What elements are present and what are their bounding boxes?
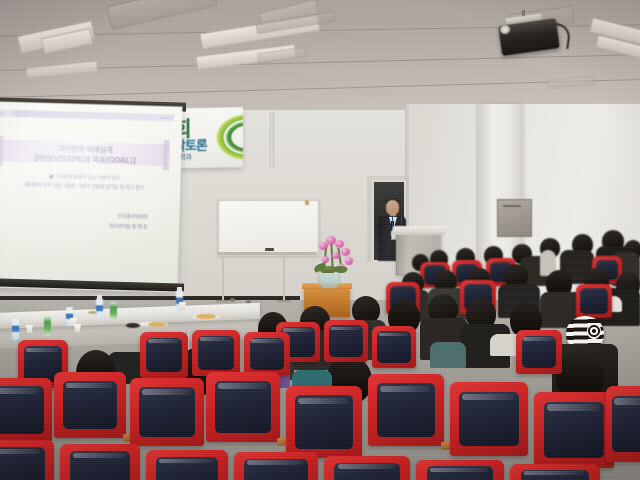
auditorium-seat[interactable] bbox=[450, 382, 528, 456]
auditorium-seat[interactable] bbox=[234, 452, 318, 480]
beverage-bottle bbox=[110, 302, 117, 320]
beanie-swirl-pattern bbox=[587, 323, 601, 339]
snack-food bbox=[148, 322, 166, 327]
whiteboard-clip bbox=[305, 200, 309, 205]
auditorium-seat[interactable] bbox=[140, 332, 188, 378]
auditorium-seat[interactable] bbox=[130, 378, 204, 446]
bottle-cap bbox=[97, 295, 102, 299]
floor-object bbox=[230, 298, 235, 302]
beverage-bottle bbox=[44, 316, 51, 336]
podium-desktop bbox=[391, 226, 448, 235]
banner-hanging-rod bbox=[270, 112, 274, 168]
bottle-cap bbox=[13, 315, 18, 319]
auditorium-seat[interactable] bbox=[0, 378, 52, 442]
auditorium-seat[interactable] bbox=[606, 386, 640, 462]
bottle-cap bbox=[177, 287, 182, 291]
auditorium-seat[interactable] bbox=[324, 456, 410, 480]
orchid-bloom bbox=[332, 252, 340, 259]
auditorium-seat[interactable] bbox=[576, 284, 612, 318]
auditorium-seat[interactable] bbox=[286, 386, 362, 458]
wall-control-panel[interactable] bbox=[497, 199, 532, 237]
audience-colored-coat bbox=[430, 342, 466, 368]
auditorium-seat[interactable] bbox=[206, 372, 280, 442]
snack-food bbox=[88, 311, 97, 314]
auditorium-seat[interactable] bbox=[534, 392, 614, 468]
projection-screen: ▪▪▪▪▪ 자신만의 미래설계 [비전(VISION)과 목표(GOAL)] ■… bbox=[0, 101, 183, 292]
lecture-hall-photo: 수회 기전탁토론 교 현장공학과 ▪▪▪▪▪ 자신만의 미래설계 [비전(VIS… bbox=[0, 0, 640, 480]
auditorium-seat[interactable] bbox=[516, 330, 562, 374]
water-bottle bbox=[96, 298, 103, 319]
auditorium-seat[interactable] bbox=[60, 444, 140, 480]
snack-food bbox=[126, 323, 140, 328]
auditorium-seat[interactable] bbox=[192, 330, 240, 376]
whiteboard-pen-tray bbox=[218, 252, 317, 255]
orchid-bloom bbox=[341, 248, 350, 256]
auditorium-seat[interactable] bbox=[54, 372, 126, 438]
auditorium-seat[interactable] bbox=[368, 374, 444, 446]
whiteboard-foot bbox=[216, 300, 229, 302]
auditorium-seat[interactable] bbox=[510, 464, 600, 480]
whiteboard-leg bbox=[283, 254, 285, 302]
auditorium-seat[interactable] bbox=[0, 440, 54, 480]
orchid-bloom bbox=[335, 240, 344, 248]
water-bottle bbox=[12, 318, 19, 340]
whiteboard-leg bbox=[222, 254, 224, 302]
auditorium-seat[interactable] bbox=[324, 320, 368, 362]
orchid-bloom bbox=[345, 257, 353, 265]
auditorium-seat[interactable] bbox=[146, 450, 228, 480]
snack-food bbox=[196, 314, 216, 319]
screen-light-glow bbox=[0, 101, 183, 292]
auditorium-seat[interactable] bbox=[416, 460, 504, 480]
auditorium-seat[interactable] bbox=[244, 332, 290, 376]
whiteboard-marker bbox=[265, 248, 274, 251]
whiteboard-foot bbox=[277, 300, 290, 302]
auditorium-seat[interactable] bbox=[372, 326, 416, 368]
